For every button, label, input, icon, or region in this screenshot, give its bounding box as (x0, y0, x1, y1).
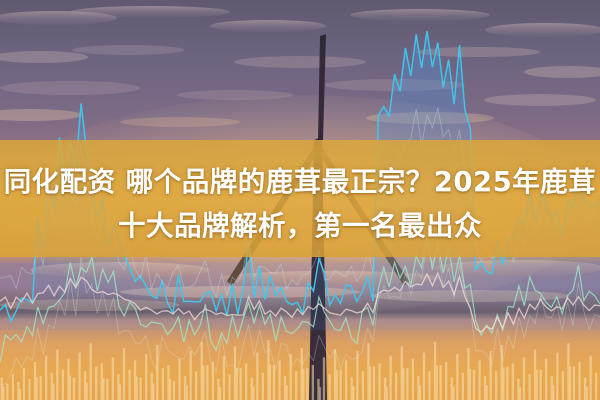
headline-band (0, 0, 600, 400)
banner-image: 同化配资 哪个品牌的鹿茸最正宗？2025年鹿茸 十大品牌解析，第一名最出众 (0, 0, 600, 400)
